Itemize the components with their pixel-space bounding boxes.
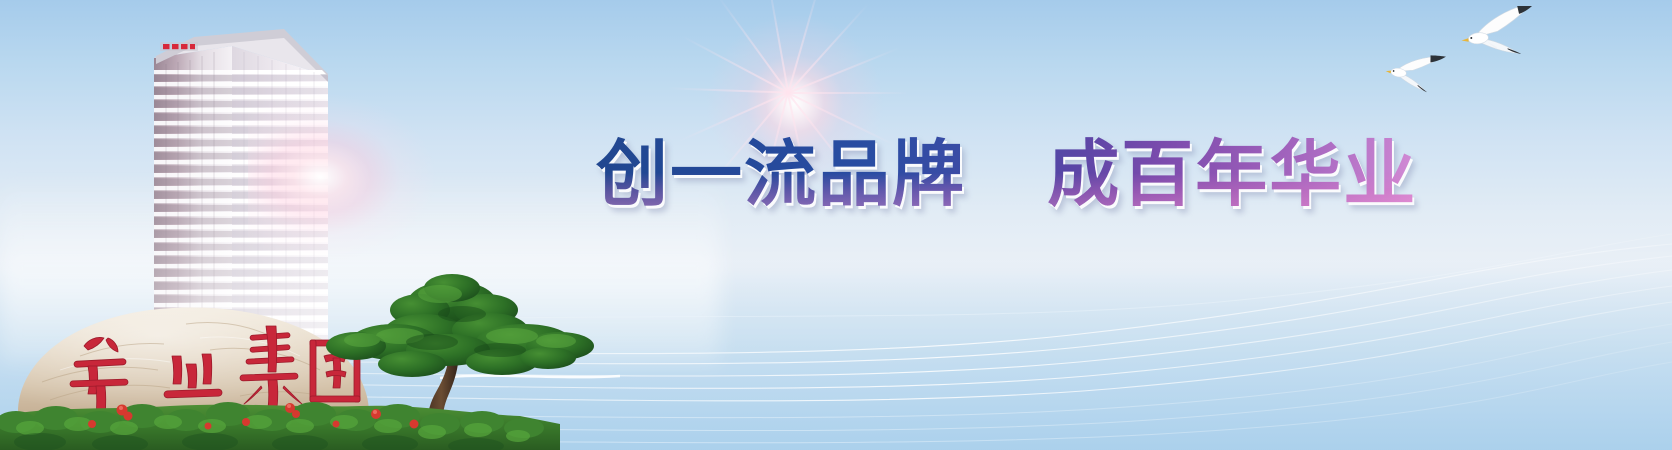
slogan-text: 创一流品牌 成百年华业 [596, 132, 1417, 216]
sun-rays [788, 92, 789, 93]
building-signage [160, 42, 198, 51]
hedge-row [0, 402, 560, 450]
seagull-icon [1374, 6, 1554, 116]
slogan-block: 创一流品牌 成百年华业 创一流品牌 成百年华业 [596, 126, 1356, 222]
monument-garden-scene [0, 210, 600, 450]
company-hero-banner: 创一流品牌 成百年华业 创一流品牌 成百年华业 [0, 0, 1672, 450]
slogan-wrapper: 创一流品牌 成百年华业 创一流品牌 成百年华业 [596, 138, 1417, 210]
